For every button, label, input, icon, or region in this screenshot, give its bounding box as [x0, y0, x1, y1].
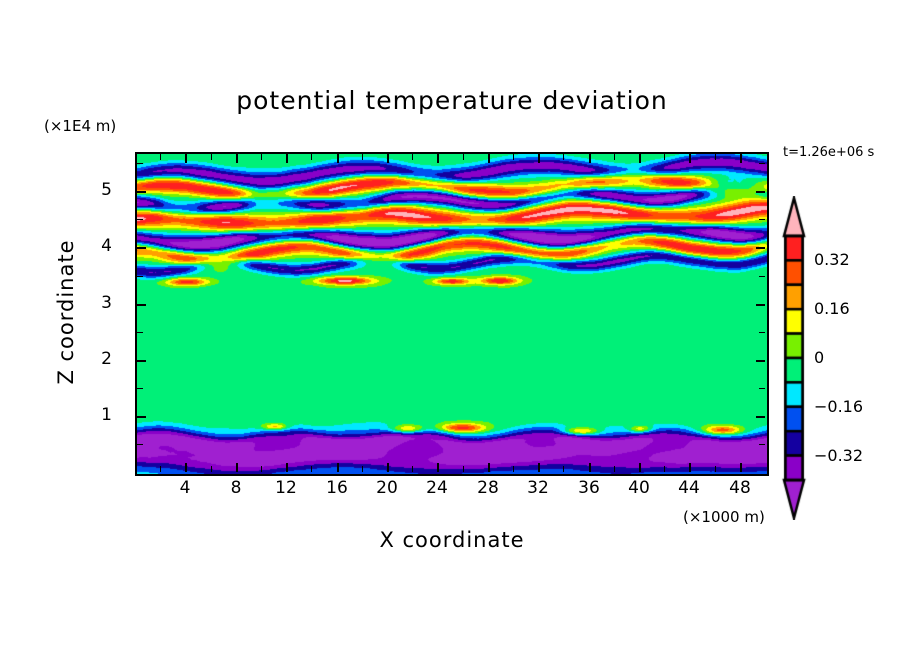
- y-major-tick-right: [756, 191, 765, 193]
- x-major-tick: [740, 463, 742, 472]
- y-minor-tick-right: [759, 219, 765, 220]
- contour-field-canvas: [137, 154, 767, 474]
- x-major-tick-top: [639, 154, 641, 163]
- y-minor-tick-right: [759, 444, 765, 445]
- y-tick-label: 2: [88, 349, 112, 369]
- x-major-tick-top: [689, 154, 691, 163]
- x-major-tick: [387, 463, 389, 472]
- x-major-tick-top: [185, 154, 187, 163]
- y-minor-tick-right: [759, 388, 765, 389]
- y-minor-tick: [137, 332, 143, 333]
- y-tick-label: 3: [88, 293, 112, 313]
- x-major-tick-top: [286, 154, 288, 163]
- y-axis-unit-label: (×1E4 m): [44, 117, 116, 135]
- y-minor-tick-right: [759, 163, 765, 164]
- x-major-tick: [639, 463, 641, 472]
- y-tick-label: 1: [88, 405, 112, 425]
- x-minor-tick-top: [563, 154, 564, 160]
- x-minor-tick: [513, 466, 514, 472]
- x-major-tick: [488, 463, 490, 472]
- x-major-tick: [286, 463, 288, 472]
- x-tick-label: 40: [619, 478, 659, 498]
- x-minor-tick-top: [311, 154, 312, 160]
- y-minor-tick: [137, 163, 143, 164]
- time-annotation: t=1.26e+06 s: [783, 145, 874, 160]
- colorbar: 0.320.160−0.16−0.32: [778, 196, 812, 520]
- chart-title: potential temperature deviation: [0, 86, 904, 115]
- x-major-tick-top: [538, 154, 540, 163]
- colorbar-tick-label: −0.32: [814, 446, 863, 465]
- x-tick-label: 4: [165, 478, 205, 498]
- y-minor-tick: [137, 388, 143, 389]
- y-major-tick-right: [756, 416, 765, 418]
- x-minor-tick: [614, 466, 615, 472]
- x-minor-tick: [715, 466, 716, 472]
- x-tick-label: 16: [317, 478, 357, 498]
- x-axis-label: X coordinate: [0, 528, 904, 552]
- x-tick-label: 20: [367, 478, 407, 498]
- x-minor-tick: [664, 466, 665, 472]
- x-tick-label: 32: [518, 478, 558, 498]
- contour-plot-area: [135, 152, 769, 476]
- x-tick-label: 24: [417, 478, 457, 498]
- x-minor-tick-top: [211, 154, 212, 160]
- x-minor-tick-top: [513, 154, 514, 160]
- x-major-tick-top: [387, 154, 389, 163]
- x-minor-tick: [412, 466, 413, 472]
- x-minor-tick: [563, 466, 564, 472]
- x-tick-label: 44: [669, 478, 709, 498]
- colorbar-tick-label: 0.32: [814, 250, 850, 269]
- y-major-tick: [137, 416, 146, 418]
- x-minor-tick: [311, 466, 312, 472]
- colorbar-tick-label: 0: [814, 348, 824, 367]
- x-major-tick: [337, 463, 339, 472]
- y-minor-tick: [137, 276, 143, 277]
- x-minor-tick: [261, 466, 262, 472]
- x-major-tick: [538, 463, 540, 472]
- x-minor-tick-top: [715, 154, 716, 160]
- y-tick-label: 5: [88, 180, 112, 200]
- x-major-tick-top: [488, 154, 490, 163]
- y-minor-tick: [137, 219, 143, 220]
- colorbar-tick-label: −0.16: [814, 397, 863, 416]
- x-minor-tick-top: [362, 154, 363, 160]
- x-minor-tick-top: [160, 154, 161, 160]
- x-major-tick: [689, 463, 691, 472]
- x-minor-tick-top: [614, 154, 615, 160]
- x-major-tick-top: [337, 154, 339, 163]
- colorbar-canvas: [778, 196, 812, 520]
- y-tick-label: 4: [88, 236, 112, 256]
- y-major-tick-right: [756, 304, 765, 306]
- y-minor-tick-right: [759, 332, 765, 333]
- x-major-tick: [437, 463, 439, 472]
- x-tick-label: 12: [266, 478, 306, 498]
- x-major-tick-top: [236, 154, 238, 163]
- x-tick-label: 8: [216, 478, 256, 498]
- x-axis-unit-label: (×1000 m): [683, 508, 765, 526]
- x-tick-label: 36: [569, 478, 609, 498]
- x-tick-label: 48: [720, 478, 760, 498]
- x-major-tick: [589, 463, 591, 472]
- y-major-tick-right: [756, 360, 765, 362]
- x-major-tick-top: [740, 154, 742, 163]
- x-minor-tick-top: [261, 154, 262, 160]
- x-tick-label: 28: [468, 478, 508, 498]
- y-minor-tick-right: [759, 276, 765, 277]
- x-minor-tick-top: [412, 154, 413, 160]
- x-minor-tick: [463, 466, 464, 472]
- x-major-tick-top: [589, 154, 591, 163]
- y-major-tick: [137, 247, 146, 249]
- y-major-tick: [137, 304, 146, 306]
- x-minor-tick: [211, 466, 212, 472]
- x-minor-tick-top: [664, 154, 665, 160]
- colorbar-tick-label: 0.16: [814, 299, 850, 318]
- x-major-tick: [185, 463, 187, 472]
- y-major-tick: [137, 360, 146, 362]
- x-major-tick: [236, 463, 238, 472]
- x-minor-tick: [362, 466, 363, 472]
- y-major-tick-right: [756, 247, 765, 249]
- y-minor-tick: [137, 444, 143, 445]
- x-minor-tick: [160, 466, 161, 472]
- x-major-tick-top: [437, 154, 439, 163]
- y-axis-label: Z coordinate: [54, 232, 78, 392]
- x-minor-tick-top: [463, 154, 464, 160]
- y-major-tick: [137, 191, 146, 193]
